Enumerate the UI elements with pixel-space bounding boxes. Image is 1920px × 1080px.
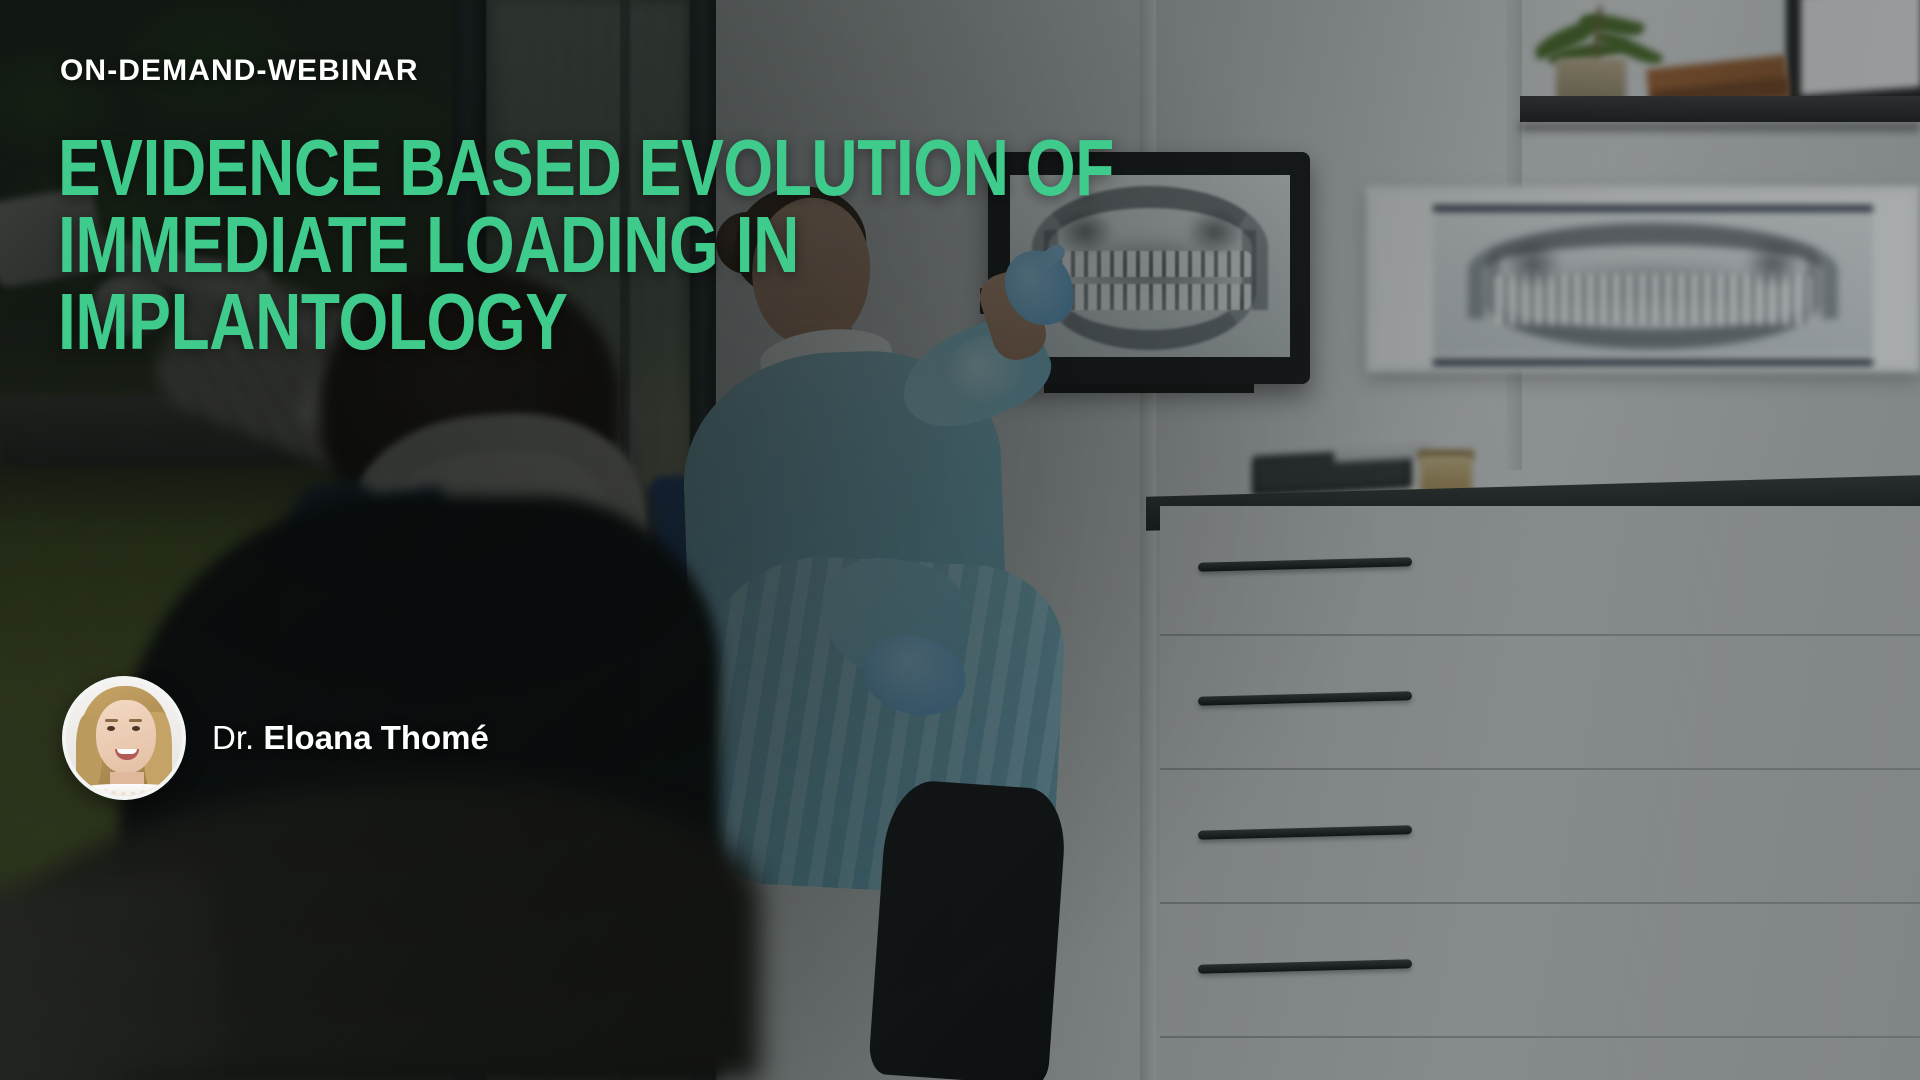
avatar — [62, 676, 186, 800]
page-title: EVIDENCE BASED EVOLUTION OF IMMEDIATE LO… — [58, 130, 802, 360]
speaker-title-prefix: Dr. — [212, 719, 254, 756]
speaker-full-name: Eloana Thomé — [263, 719, 489, 756]
speaker-block: Dr. Eloana Thomé — [62, 676, 489, 800]
banner-content: ON-DEMAND-WEBINAR EVIDENCE BASED EVOLUTI… — [0, 0, 1920, 1080]
webinar-banner: ON-DEMAND-WEBINAR EVIDENCE BASED EVOLUTI… — [0, 0, 1920, 1080]
title-line-2: IMMEDIATE LOADING IN — [58, 207, 802, 284]
title-line-1: EVIDENCE BASED EVOLUTION OF — [58, 130, 802, 207]
title-line-3: IMPLANTOLOGY — [58, 284, 802, 361]
speaker-name: Dr. Eloana Thomé — [212, 719, 489, 757]
eyebrow-label: ON-DEMAND-WEBINAR — [60, 54, 419, 88]
